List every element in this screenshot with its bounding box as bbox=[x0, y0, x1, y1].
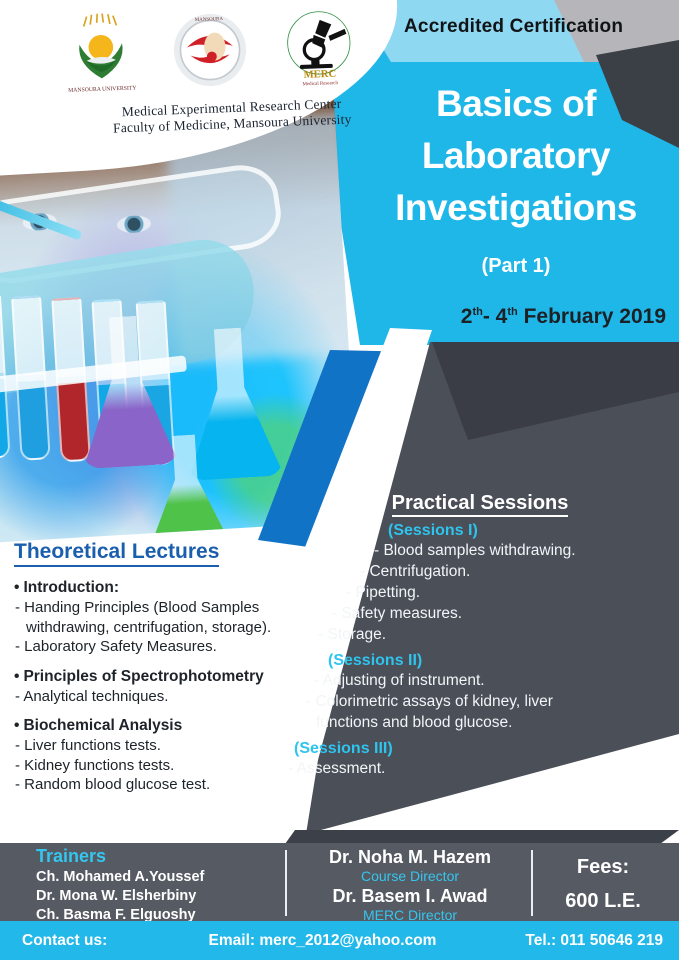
trainer-name: Ch. Mohamed A.Youssef bbox=[36, 868, 282, 887]
svg-text:MERC: MERC bbox=[303, 69, 336, 81]
directors-block: Dr. Noha M. Hazem Course Director Dr. Ba… bbox=[292, 846, 528, 924]
strip-divider-1 bbox=[285, 850, 287, 916]
date-separator: - bbox=[483, 305, 496, 328]
theory-item: - Laboratory Safety Measures. bbox=[14, 637, 334, 657]
theory-item: - Analytical techniques. bbox=[14, 687, 334, 707]
theory-item: - Handing Principles (Blood Sampleswithd… bbox=[14, 598, 334, 637]
course-part-label: (Part 1) bbox=[360, 255, 672, 278]
theory-item-text: - Handing Principles (Blood Samples bbox=[15, 599, 259, 616]
session-2-item-text: - Colorimetric assays of kidney, liver bbox=[306, 693, 553, 710]
theory-item-cont: withdrawing, centrifugation, storage). bbox=[15, 618, 334, 638]
session-1-label: (Sessions I) bbox=[388, 522, 672, 540]
session-1-item: - Pipetting. bbox=[346, 582, 672, 603]
mansoura-university-logo: MANSOURA UNIVERSITY bbox=[59, 11, 144, 96]
contact-label: Contact us: bbox=[0, 932, 202, 950]
faculty-of-medicine-logo: MANSOURA bbox=[168, 8, 253, 93]
poster-root: MANSOURA UNIVERSITY MANSOURA bbox=[0, 0, 679, 960]
title-line-1: Basics of bbox=[360, 78, 672, 130]
trainers-block: Trainers Ch. Mohamed A.Youssef Dr. Mona … bbox=[36, 846, 282, 925]
session-1-item: - Blood samples withdrawing. bbox=[374, 540, 672, 561]
date-day-1: 2 bbox=[461, 305, 473, 328]
fees-amount: 600 L.E. bbox=[538, 884, 668, 918]
theory-item: - Random blood glucose test. bbox=[14, 775, 334, 795]
contact-email[interactable]: Email: merc_2012@yahoo.com bbox=[202, 932, 443, 950]
footer-contact: Contact us: Email: merc_2012@yahoo.com T… bbox=[0, 921, 679, 960]
theory-group-head: Biochemical Analysis bbox=[14, 717, 334, 735]
session-1-item: - Safety measures. bbox=[332, 603, 672, 624]
course-title: Basics of Laboratory Investigations bbox=[360, 78, 672, 234]
director-name: Dr. Basem I. Awad bbox=[292, 885, 528, 907]
theoretical-lectures-heading: Theoretical Lectures bbox=[14, 540, 219, 567]
date-month-year: February 2019 bbox=[524, 305, 666, 328]
contact-phone[interactable]: Tel.: 011 50646 219 bbox=[443, 932, 679, 950]
svg-text:MANSOURA: MANSOURA bbox=[195, 17, 224, 23]
theory-group-head: Introduction: bbox=[14, 579, 334, 597]
accredited-certification-label: Accredited Certification bbox=[404, 16, 664, 38]
trainers-title: Trainers bbox=[36, 846, 282, 867]
theory-group-head: Principles of Spectrophotometry bbox=[14, 668, 334, 686]
course-dates: 2th- 4th February 2019 bbox=[360, 305, 666, 329]
date-sup-2: th bbox=[507, 306, 517, 318]
trainer-name: Dr. Mona W. Elsherbiny bbox=[36, 887, 282, 906]
practical-sessions-heading: Practical Sessions bbox=[288, 492, 672, 515]
director-role: Course Director bbox=[292, 868, 528, 885]
theory-group: Biochemical Analysis - Liver functions t… bbox=[14, 717, 334, 795]
session-3-item: - Assessment. bbox=[288, 758, 672, 779]
title-line-3: Investigations bbox=[360, 182, 672, 234]
svg-text:Medical Research: Medical Research bbox=[303, 81, 339, 87]
strip-divider-2 bbox=[531, 850, 533, 916]
session-2-label: (Sessions II) bbox=[328, 652, 672, 670]
date-sup-1: th bbox=[472, 306, 482, 318]
date-day-2: 4 bbox=[496, 305, 508, 328]
session-1-item: - Centrifugation. bbox=[360, 561, 672, 582]
svg-text:MANSOURA UNIVERSITY: MANSOURA UNIVERSITY bbox=[68, 85, 137, 93]
practical-sessions-heading-text: Practical Sessions bbox=[392, 492, 569, 517]
session-2-item-cont: functions and blood glucose. bbox=[306, 712, 672, 733]
fees-label: Fees: bbox=[538, 850, 668, 884]
session-2-item: - Colorimetric assays of kidney, liverfu… bbox=[306, 691, 672, 733]
merc-logo: MERC Medical Research bbox=[277, 4, 362, 89]
session-2-item: - Adjusting of instrument. bbox=[314, 670, 672, 691]
session-3-label: (Sessions III) bbox=[294, 740, 672, 758]
theory-item: - Kidney functions tests. bbox=[14, 756, 334, 776]
theory-group: Introduction: - Handing Principles (Bloo… bbox=[14, 579, 334, 657]
title-line-2: Laboratory bbox=[360, 130, 672, 182]
director-name: Dr. Noha M. Hazem bbox=[292, 846, 528, 868]
session-1-item: - Storage. bbox=[318, 624, 672, 645]
theory-item: - Liver functions tests. bbox=[14, 736, 334, 756]
logo-row: MANSOURA UNIVERSITY MANSOURA bbox=[59, 1, 362, 99]
theoretical-lectures-section: Theoretical Lectures Introduction: - Han… bbox=[14, 540, 334, 806]
theory-group: Principles of Spectrophotometry - Analyt… bbox=[14, 668, 334, 707]
fees-block: Fees: 600 L.E. bbox=[538, 850, 668, 918]
practical-sessions-section: Practical Sessions (Sessions I) - Blood … bbox=[288, 492, 672, 779]
